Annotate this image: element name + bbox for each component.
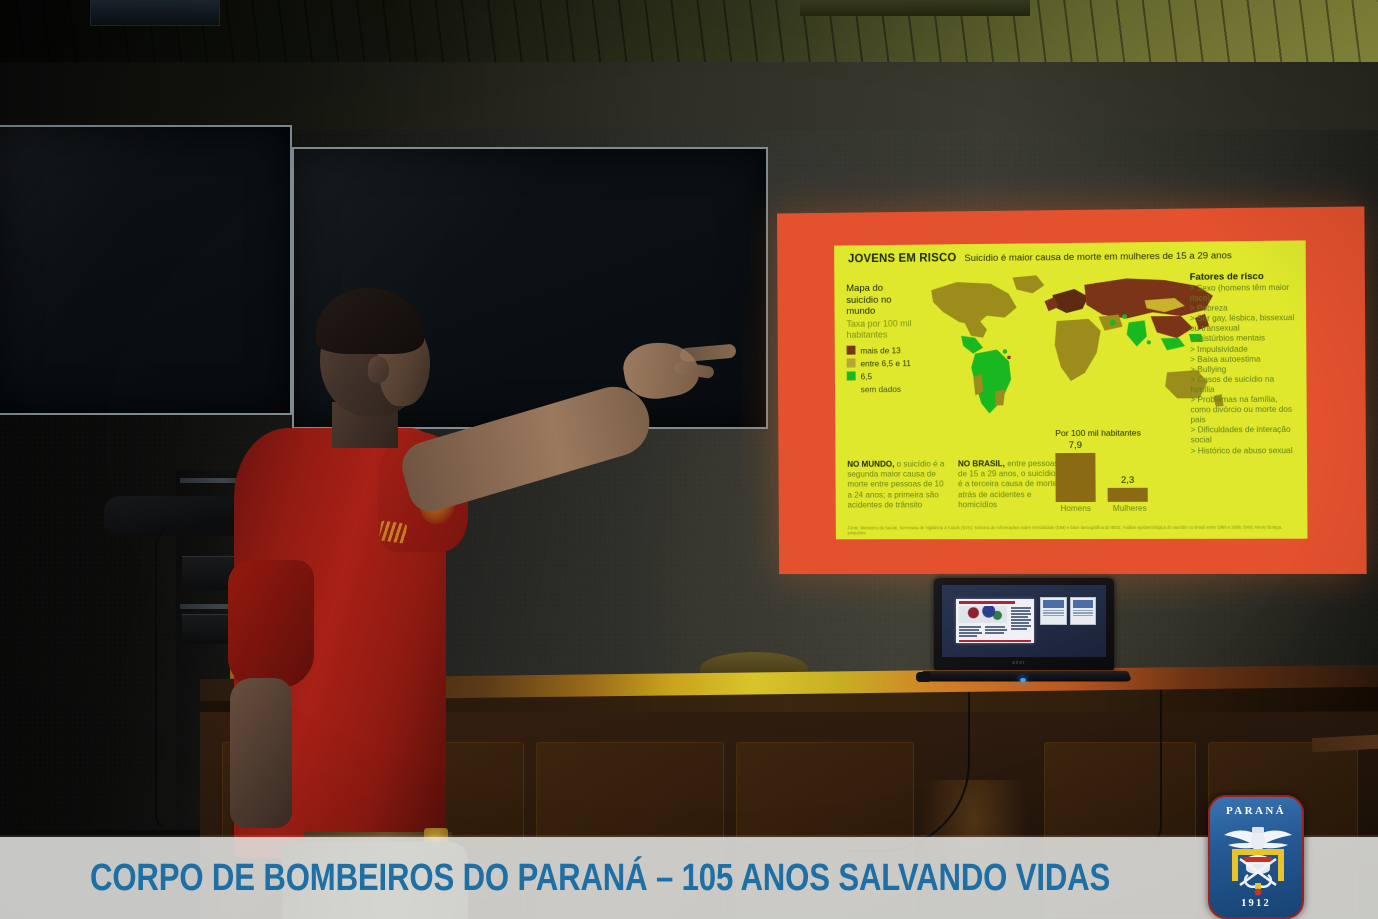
stat-column-lead: NO MUNDO,: [847, 460, 894, 469]
preview-text-line: [1011, 616, 1028, 618]
preview-text-line: [1011, 622, 1029, 624]
map-legend: Mapa do suicídio no mundo Taxa por 100 m…: [846, 282, 945, 394]
risk-factor-item: > Ser gay, lésbica, bissexual ou transex…: [1190, 313, 1299, 334]
preview-text-line: [985, 632, 1004, 634]
ceiling-vent: [90, 0, 220, 26]
ceiling-vent-secondary: [800, 0, 1030, 16]
preview-text-line: [959, 635, 977, 637]
preview-text-line: [959, 632, 982, 634]
legend-swatch-low: [847, 372, 856, 381]
preview-title-bar: [959, 601, 1015, 604]
bar-women: [1108, 487, 1148, 501]
laptop-screen[interactable]: [942, 585, 1106, 657]
slide-subtitle: Suicídio é maior causa de morte em mulhe…: [964, 250, 1231, 264]
risk-factor-item: > Dificuldades de interação social: [1191, 425, 1300, 446]
bar-men: [1055, 453, 1095, 502]
risk-factors-heading: Fatores de risco: [1190, 271, 1299, 283]
power-led-indicator: [1020, 678, 1026, 682]
preview-text-line: [959, 626, 981, 628]
laptop-brand-label: acer: [1012, 660, 1026, 666]
preview-text-line: [1011, 625, 1031, 627]
banner-title: CORPO DE BOMBEIROS DO PARANÁ – 105 ANOS …: [90, 857, 1110, 900]
wall-cable: [155, 520, 185, 830]
presenter-left-arm: [230, 678, 292, 828]
laptop-video-cable: [1128, 690, 1162, 858]
chart-category-labels: Homens Mulheres: [1056, 504, 1180, 513]
legend-row: entre 6,5 e 11: [847, 358, 946, 369]
logo-top-label: PARANÁ: [1210, 805, 1302, 817]
laptop-lid: acer: [934, 578, 1114, 670]
slide-thumbnail[interactable]: [1070, 597, 1097, 625]
stat-column-brazil: NO BRASIL, entre pessoas de 15 a 29 anos…: [958, 459, 1061, 510]
slide-source-note: Fonte: Ministério da Saúde, Secretaria d…: [848, 524, 1298, 535]
risk-factor-item: > Problemas na família, como divórcio ou…: [1190, 395, 1299, 426]
preview-text-line: [1011, 613, 1031, 615]
map-legend-subheading: Taxa por 100 mil habitantes: [846, 318, 945, 341]
legend-label: mais de 13: [860, 345, 900, 355]
slide-thumbnail[interactable]: [1040, 597, 1067, 625]
preview-text-line: [1011, 628, 1027, 630]
chart-plot-area: 7,9 2,3: [1055, 439, 1180, 502]
screen-slide-preview: [956, 599, 1034, 643]
slide-header: JOVENS EM RISCO Suicídio é maior causa d…: [848, 249, 1298, 266]
gender-rate-bar-chart: Por 100 mil habitantes 7,9 2,3 Homens Mu…: [1055, 427, 1180, 513]
risk-factor-item: > Casos de suicídio na família: [1190, 374, 1299, 395]
eagle-helmet-axes-emblem: [1218, 819, 1298, 897]
slide-title: JOVENS EM RISCO: [848, 252, 956, 265]
legend-swatch-mid: [847, 359, 856, 368]
projected-slide: JOVENS EM RISCO Suicídio é maior causa d…: [834, 240, 1307, 539]
risk-factor-item: > Bullying: [1190, 364, 1299, 375]
risk-factors-panel: Fatores de risco > Sexo (homens têm maio…: [1190, 271, 1300, 456]
preview-text-line: [959, 629, 979, 631]
cable-plug: [916, 672, 932, 682]
bar-value-label: 2,3: [1121, 474, 1134, 485]
presenter-sleeve: [228, 560, 314, 688]
legend-swatch-high: [847, 346, 856, 355]
chart-title: Por 100 mil habitantes: [1055, 427, 1179, 438]
preview-text-line: [1011, 607, 1031, 609]
presenter-hair: [316, 288, 424, 354]
preview-text-line: [985, 629, 1007, 631]
preview-text-line: [1011, 610, 1030, 612]
map-legend-heading: Mapa do suicídio no mundo: [846, 282, 945, 317]
presenter: [228, 280, 548, 919]
legend-label: 6,5: [861, 371, 873, 381]
bar-group-men: 7,9: [1055, 440, 1095, 502]
bar-group-women: 2,3: [1108, 474, 1148, 501]
parana-fire-department-logo: PARANÁ: [1208, 795, 1304, 919]
map-legend-items: mais de 13 entre 6,5 e 11 6,5 sem dados: [847, 345, 946, 394]
bottom-banner: CORPO DE BOMBEIROS DO PARANÁ – 105 ANOS …: [0, 837, 1378, 919]
shirt-rank-insignia: [379, 520, 408, 543]
laptop[interactable]: acer: [916, 578, 1134, 696]
preview-text-line: [1011, 619, 1031, 621]
projected-slide-frame: JOVENS EM RISCO Suicídio é maior causa d…: [777, 206, 1367, 574]
legend-label: entre 6,5 e 11: [860, 358, 910, 368]
bar-value-label: 7,9: [1069, 440, 1082, 451]
stat-column-lead: NO BRASIL,: [958, 459, 1005, 468]
world-suicide-map: [913, 271, 1234, 423]
risk-factor-item: > Histórico de abuso sexual: [1191, 445, 1300, 456]
preview-map: [959, 606, 1007, 623]
logo-year-label: 1912: [1210, 898, 1302, 909]
screen-slide-thumbnails[interactable]: [1040, 597, 1096, 625]
legend-row: 6,5: [847, 371, 946, 382]
legend-row: mais de 13: [847, 345, 946, 356]
chart-category-label: Homens: [1056, 504, 1096, 513]
presenter-ear: [368, 356, 389, 383]
photo-scene: JOVENS EM RISCO Suicídio é maior causa d…: [0, 0, 1378, 919]
chart-category-label: Mulheres: [1108, 504, 1152, 513]
legend-no-data-label: sem dados: [861, 384, 946, 394]
risk-factor-item: > Sexo (homens têm maior risco): [1190, 283, 1299, 304]
preview-footer-bar: [959, 640, 1031, 642]
stat-column-world: NO MUNDO, o suicídio é a segunda maior c…: [847, 459, 949, 510]
preview-text-line: [985, 626, 1005, 628]
